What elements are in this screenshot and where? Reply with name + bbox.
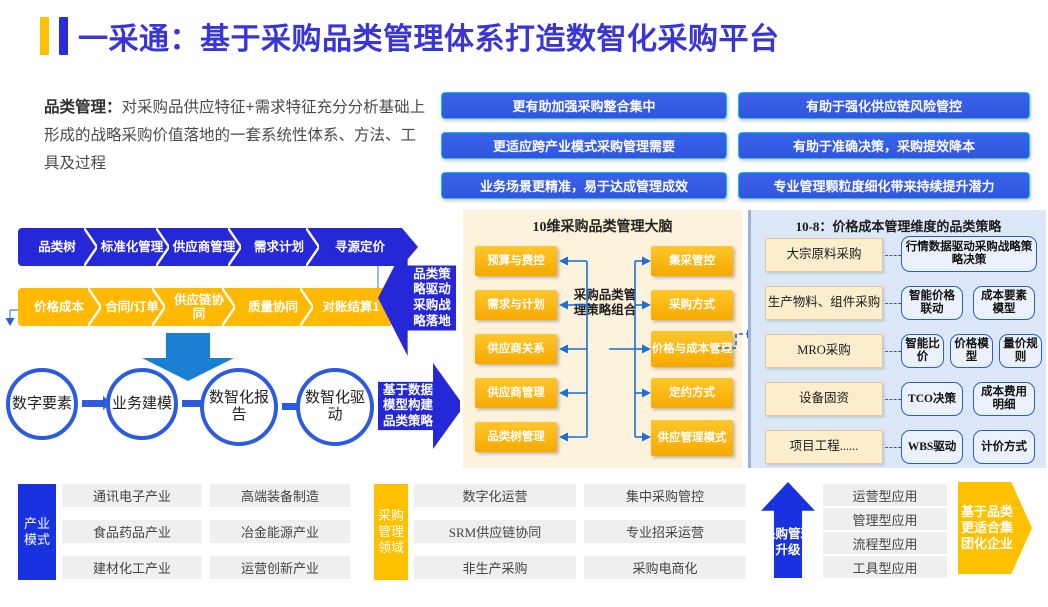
chevron-lower-1[interactable]: 价格成本 <box>18 288 100 326</box>
procurement-upgrade-arrow: 采购管理升级 <box>761 482 815 578</box>
benefit-pill-right-3[interactable]: 专业管理颗粒度细化带来持续提升潜力 <box>738 172 1030 199</box>
circle-step-1[interactable]: 数字要素 <box>6 368 78 440</box>
circle-step-2[interactable]: 业务建模 <box>106 368 178 440</box>
strategy-tag-5-1[interactable]: WBS驱动 <box>901 430 963 464</box>
procurement-upgrade-arrow-label: 采购管理升级 <box>761 527 815 558</box>
industry-item-2[interactable]: 食品药品产业 <box>62 520 202 543</box>
upper-process-chevrons: 品类树 标准化管理 供应商管理 需求计划 寻源定价 <box>18 228 418 266</box>
price-cost-strategy-panel: 10-8：价格成本管理维度的品类策略 大宗原料采购 行情数据驱动采购战略策略决策… <box>748 210 1046 468</box>
chevron-lower-3[interactable]: 供应链协同 <box>164 288 234 326</box>
strategy-category-5[interactable]: 项目工程...... <box>765 430 883 464</box>
circle-step-2-label: 业务建模 <box>112 396 172 413</box>
strategy-tag-2-2-label: 成本要素模型 <box>976 290 1032 316</box>
industry-item-4[interactable]: 高端装备制造 <box>210 484 350 507</box>
chevron-upper-4-label: 需求计划 <box>254 240 304 254</box>
strategy-tag-4-1-label: TCO决策 <box>908 393 956 406</box>
strategy-category-4-label: 设备固资 <box>799 392 849 406</box>
brain-connectors <box>463 210 745 468</box>
conclusion-arrow: 基于品类更适合集团化企业 <box>958 482 1032 574</box>
circle-step-3[interactable]: 数智化报告 <box>200 368 278 446</box>
benefit-pill-left-1[interactable]: 更有助加强采购整合集中 <box>441 92 727 119</box>
chevron-lower-4[interactable]: 质量协同 <box>234 288 312 326</box>
chevron-lower-5[interactable]: 对账结算1 <box>312 288 390 326</box>
strategy-tag-3-3-label: 量价规则 <box>1002 338 1039 364</box>
chevron-lower-4-label: 质量协同 <box>248 300 298 314</box>
strategy-tag-2-1-label: 智能价格联动 <box>904 290 960 316</box>
lower-process-chevrons: 价格成本 合同/订单 供应链协同 质量协同 对账结算1 <box>18 288 406 326</box>
strategy-dash-1 <box>885 255 901 256</box>
strategy-tag-5-2[interactable]: 计价方式 <box>973 430 1035 464</box>
page-title: 一采通：基于采购品类管理体系打造数智化采购平台 <box>40 14 780 58</box>
strategy-dash-5 <box>885 447 901 448</box>
benefit-pill-left-2[interactable]: 更适应跨产业模式采购管理需要 <box>441 132 727 159</box>
chevron-upper-1[interactable]: 品类树 <box>18 228 96 266</box>
domain-item-2[interactable]: SRM供应链协同 <box>414 520 576 543</box>
description-block: 品类管理：对采购品供应特征+需求特征充分分析基础上形成的战略采购价值落地的一套系… <box>44 94 429 179</box>
strategy-tag-2-1[interactable]: 智能价格联动 <box>901 286 963 320</box>
domain-item-5[interactable]: 专业招采运营 <box>584 520 746 543</box>
industry-item-3[interactable]: 建材化工产业 <box>62 556 202 579</box>
strategy-tag-1-1[interactable]: 行情数据驱动采购战略策略决策 <box>901 236 1037 272</box>
chevron-lower-5-label: 对账结算1 <box>323 300 380 314</box>
strategy-category-3[interactable]: MRO采购 <box>765 334 883 368</box>
chevron-upper-1-label: 品类树 <box>38 240 76 254</box>
circle-step-4[interactable]: 数智化驱动 <box>296 368 374 446</box>
strategy-category-2[interactable]: 生产物料、组件采购 <box>765 286 883 320</box>
chevron-lower-2-label: 合同/订单 <box>105 300 158 314</box>
chevron-upper-2[interactable]: 标准化管理 <box>96 228 168 266</box>
circle-step-1-label: 数字要素 <box>12 396 72 413</box>
chevron-lower-3-label: 供应链协同 <box>168 293 230 322</box>
chevron-upper-2-label: 标准化管理 <box>101 240 164 254</box>
strategy-category-5-label: 项目工程...... <box>790 440 859 454</box>
application-item-2[interactable]: 管理型应用 <box>823 508 947 530</box>
strategy-tag-1-1-label: 行情数据驱动采购战略策略决策 <box>904 241 1034 267</box>
strategy-tag-3-2-label: 价格模型 <box>953 338 990 364</box>
chevron-upper-3[interactable]: 供应商管理 <box>168 228 240 266</box>
circle-step-3-label: 数智化报告 <box>204 390 274 424</box>
strategy-category-1-label: 大宗原料采购 <box>786 248 861 262</box>
description-label: 品类管理： <box>44 99 122 116</box>
application-item-1[interactable]: 运营型应用 <box>823 484 947 506</box>
strategy-tag-5-2-label: 计价方式 <box>981 441 1027 454</box>
benefit-pill-left-3[interactable]: 业务场景更精准，易于达成管理成效 <box>441 172 727 199</box>
strategy-category-1[interactable]: 大宗原料采购 <box>765 238 883 272</box>
application-item-4[interactable]: 工具型应用 <box>823 556 947 578</box>
chevron-upper-5[interactable]: 寻源定价 <box>318 228 402 266</box>
title-accent-blue-bar <box>59 17 68 55</box>
chevron-upper-4[interactable]: 需求计划 <box>240 228 318 266</box>
data-model-arrow-label: 基于数据模型构建品类策略 <box>378 383 438 430</box>
right-panel-title: 10-8：价格成本管理维度的品类策略 <box>751 216 1046 235</box>
domain-item-1[interactable]: 数字化运营 <box>414 484 576 507</box>
category-brain-panel: 10维采购品类管理大脑 预算与费控 需求与计划 供应商关系 供应商管理 品类树管… <box>460 210 742 468</box>
strategy-tag-4-2-label: 成本费用明细 <box>976 386 1032 412</box>
chevron-lower-2[interactable]: 合同/订单 <box>100 288 164 326</box>
title-accent-yellow-bar <box>40 17 49 55</box>
strategy-tag-2-2[interactable]: 成本要素模型 <box>973 286 1035 320</box>
domain-item-3[interactable]: 非生产采购 <box>414 556 576 579</box>
circle-step-4-label: 数智化驱动 <box>300 390 370 424</box>
data-model-arrow: 基于数据模型构建品类策略 <box>378 363 464 449</box>
application-item-3[interactable]: 流程型应用 <box>823 532 947 554</box>
page-title-text: 一采通：基于采购品类管理体系打造数智化采购平台 <box>78 14 780 58</box>
procurement-domain-label: 采购管理领域 <box>374 484 408 580</box>
benefit-pill-right-1[interactable]: 有助于强化供应链风险管控 <box>738 92 1030 119</box>
strategy-tag-5-1-label: WBS驱动 <box>908 441 957 454</box>
industry-item-6[interactable]: 运营创新产业 <box>210 556 350 579</box>
strategy-tag-4-1[interactable]: TCO决策 <box>901 382 963 416</box>
strategy-tag-3-1[interactable]: 智能比价 <box>901 334 944 368</box>
strategy-dash-2 <box>885 303 901 304</box>
chevron-upper-5-label: 寻源定价 <box>335 240 385 254</box>
industry-item-5[interactable]: 冶金能源产业 <box>210 520 350 543</box>
chevron-lower-1-label: 价格成本 <box>34 300 84 314</box>
domain-item-4[interactable]: 集中采购管控 <box>584 484 746 507</box>
circle-connector-1 <box>82 400 104 407</box>
strategy-driver-arrow-label: 品类策略驱动采购战略落地 <box>408 267 456 330</box>
industry-item-1[interactable]: 通讯电子产业 <box>62 484 202 507</box>
strategy-tag-3-2[interactable]: 价格模型 <box>950 334 993 368</box>
domain-item-6[interactable]: 采购电商化 <box>584 556 746 579</box>
strategy-category-2-label: 生产物料、组件采购 <box>768 296 881 310</box>
industry-mode-label: 产业模式 <box>18 484 56 580</box>
strategy-dash-4 <box>885 399 901 400</box>
strategy-tag-4-2[interactable]: 成本费用明细 <box>973 382 1035 416</box>
conclusion-arrow-label: 基于品类更适合集团化企业 <box>958 504 1016 553</box>
chevron-upper-3-label: 供应商管理 <box>173 240 236 254</box>
strategy-tag-3-3[interactable]: 量价规则 <box>999 334 1042 368</box>
benefit-pill-right-2[interactable]: 有助于准确决策，采购提效降本 <box>738 132 1030 159</box>
strategy-category-4[interactable]: 设备固资 <box>765 382 883 416</box>
strategy-dash-3 <box>885 351 901 352</box>
strategy-category-3-label: MRO采购 <box>797 344 850 358</box>
strategy-tag-3-1-label: 智能比价 <box>904 338 941 364</box>
